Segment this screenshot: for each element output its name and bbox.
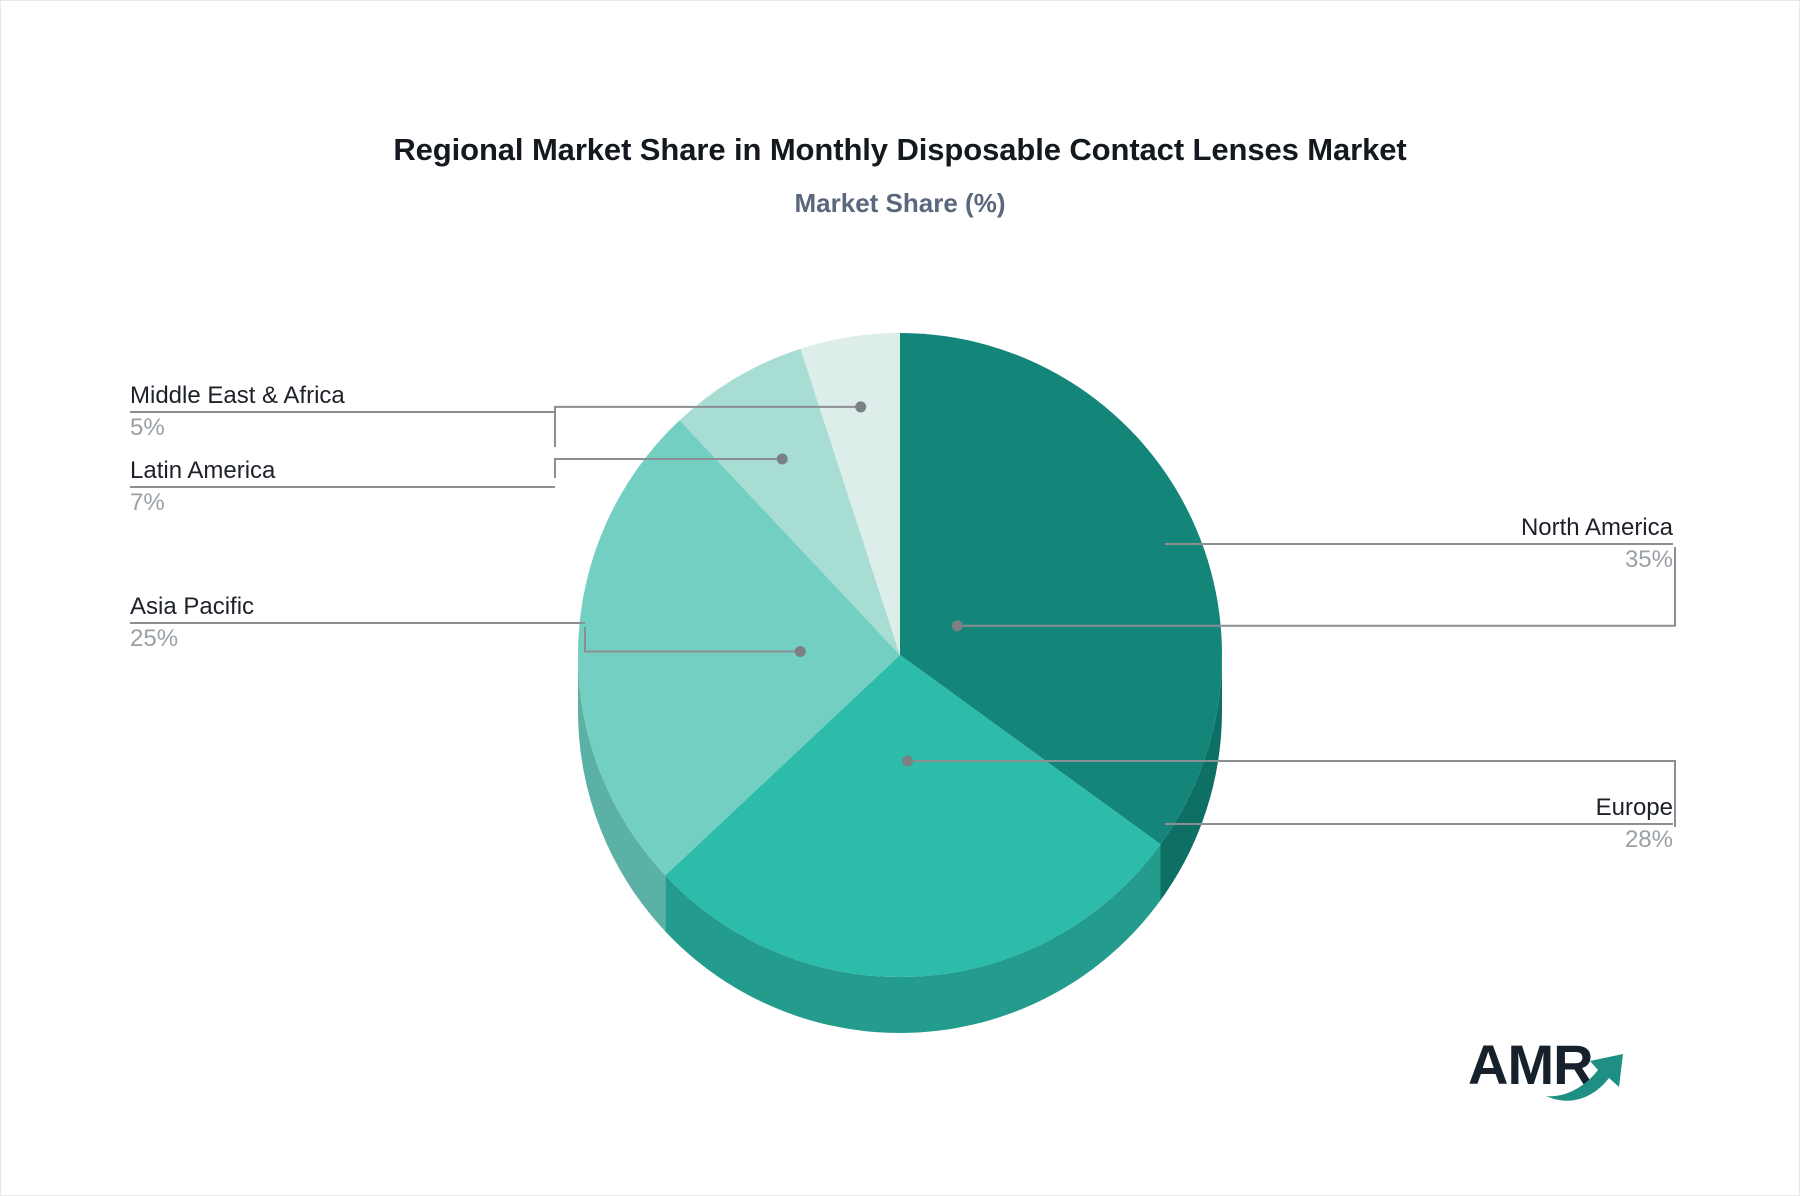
callout-label-europe: Europe <box>1165 793 1673 823</box>
callout-value-asia-pacific: 25% <box>130 624 585 654</box>
pie-3d-group <box>578 333 1222 1033</box>
leader-dot-latin-america <box>777 454 788 465</box>
callout-latin-america[interactable]: Latin America 7% <box>130 456 555 518</box>
leader-dot-north-america <box>952 620 963 631</box>
leader-dot-europe <box>902 756 913 767</box>
growth-arrow-icon <box>1468 1030 1648 1102</box>
callout-europe[interactable]: Europe 28% <box>1165 793 1673 855</box>
chart-title: Regional Market Share in Monthly Disposa… <box>0 132 1800 168</box>
callout-label-asia-pacific: Asia Pacific <box>130 592 585 622</box>
callout-label-latin-america: Latin America <box>130 456 555 486</box>
callout-value-latin-america: 7% <box>130 488 555 518</box>
leader-dot-asia-pacific <box>795 646 806 657</box>
callout-value-europe: 28% <box>1165 825 1673 855</box>
callout-north-america[interactable]: North America 35% <box>1165 513 1673 575</box>
callout-label-north-america: North America <box>1165 513 1673 543</box>
leader-dot-middle-east-africa <box>855 401 866 412</box>
callout-asia-pacific[interactable]: Asia Pacific 25% <box>130 592 585 654</box>
chart-subtitle: Market Share (%) <box>0 188 1800 219</box>
amr-logo: AMR <box>1468 1030 1648 1102</box>
callout-label-middle-east-africa: Middle East & Africa <box>130 381 555 411</box>
callout-middle-east-africa[interactable]: Middle East & Africa 5% <box>130 381 555 443</box>
callout-value-middle-east-africa: 5% <box>130 413 555 443</box>
callout-value-north-america: 35% <box>1165 545 1673 575</box>
